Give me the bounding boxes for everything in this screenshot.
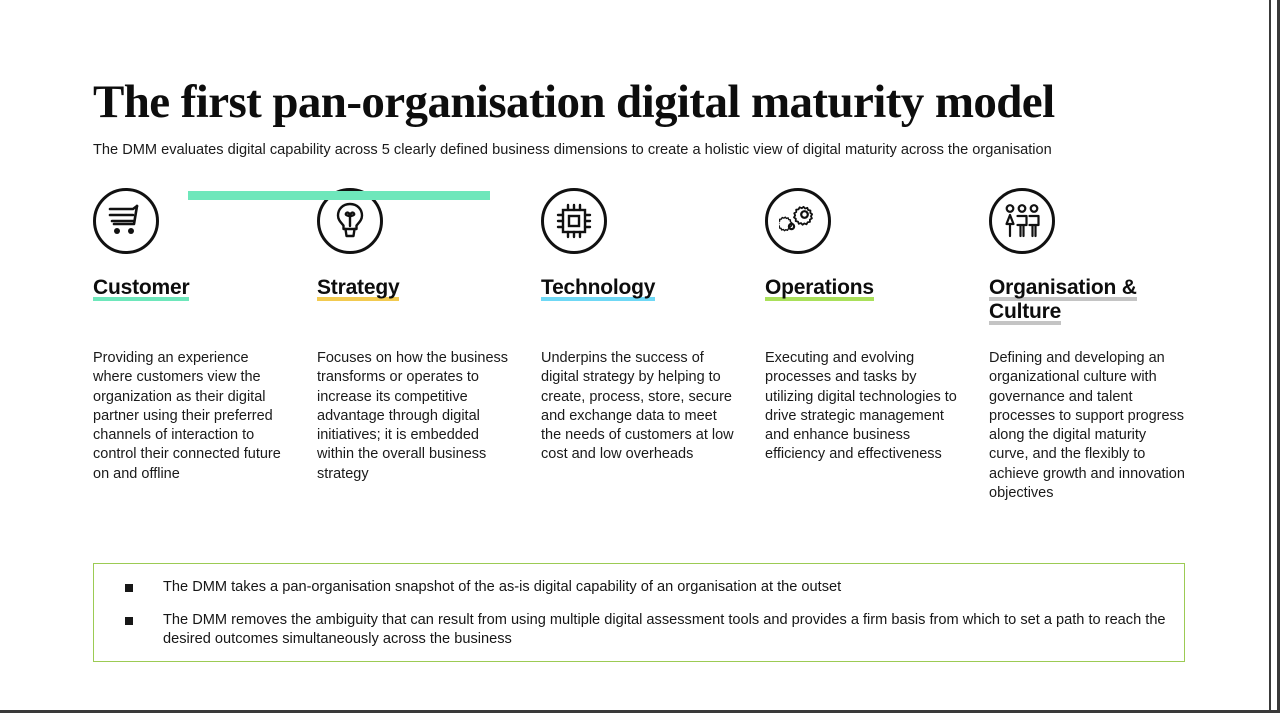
dimension-description: Providing an experience where customers … <box>93 349 289 484</box>
dimension-customer: Customer Providing an experience where c… <box>93 188 317 324</box>
title-block: The first pan-organisation digital matur… <box>93 76 1193 129</box>
dimension-technology: Technology Underpins the success of digi… <box>541 188 765 324</box>
dimension-strategy: Strategy Focuses on how the business tra… <box>317 188 541 324</box>
window-bottom-edge <box>0 710 1280 720</box>
key-points-callout: The DMM takes a pan-organisation snapsho… <box>93 563 1185 662</box>
dimension-description: Defining and developing an organizationa… <box>989 349 1185 503</box>
dimension-heading: Customer <box>93 276 317 300</box>
dimension-heading-text: Organisation & Culture <box>989 276 1137 325</box>
title-highlight-bar <box>188 191 490 200</box>
square-bullet-icon <box>125 617 133 625</box>
dimension-description: Focuses on how the business transforms o… <box>317 349 513 484</box>
list-item-text: The DMM removes the ambiguity that can r… <box>163 611 1168 650</box>
dimension-description: Underpins the success of digital strateg… <box>541 349 737 465</box>
dimension-heading-text: Customer <box>93 276 189 301</box>
slide-canvas: The first pan-organisation digital matur… <box>0 0 1269 710</box>
dimension-description: Executing and evolving processes and tas… <box>765 349 961 465</box>
dimension-heading: Operations <box>765 276 989 300</box>
page-subtitle: The DMM evaluates digital capability acr… <box>93 140 1052 160</box>
dimension-heading-text: Strategy <box>317 276 399 301</box>
dimension-organisation-culture: Organisation & Culture Defining and deve… <box>989 188 1213 324</box>
square-bullet-icon <box>125 584 133 592</box>
list-item-text: The DMM takes a pan-organisation snapsho… <box>163 578 841 598</box>
list-item: The DMM takes a pan-organisation snapsho… <box>110 578 1168 598</box>
shopping-cart-icon <box>93 188 159 254</box>
dimension-heading-text: Operations <box>765 276 874 301</box>
dimension-columns: Customer Providing an experience where c… <box>93 188 1193 324</box>
window-right-edge <box>1269 0 1280 720</box>
people-group-icon <box>989 188 1055 254</box>
list-item: The DMM removes the ambiguity that can r… <box>110 611 1168 650</box>
dimension-heading: Strategy <box>317 276 541 300</box>
dimension-heading-text: Technology <box>541 276 655 301</box>
dimension-heading: Organisation & Culture <box>989 276 1213 324</box>
microchip-icon <box>541 188 607 254</box>
dimension-operations: Operations Executing and evolving proces… <box>765 188 989 324</box>
page-title: The first pan-organisation digital matur… <box>93 76 1193 129</box>
dimension-heading: Technology <box>541 276 765 300</box>
gears-icon <box>765 188 831 254</box>
